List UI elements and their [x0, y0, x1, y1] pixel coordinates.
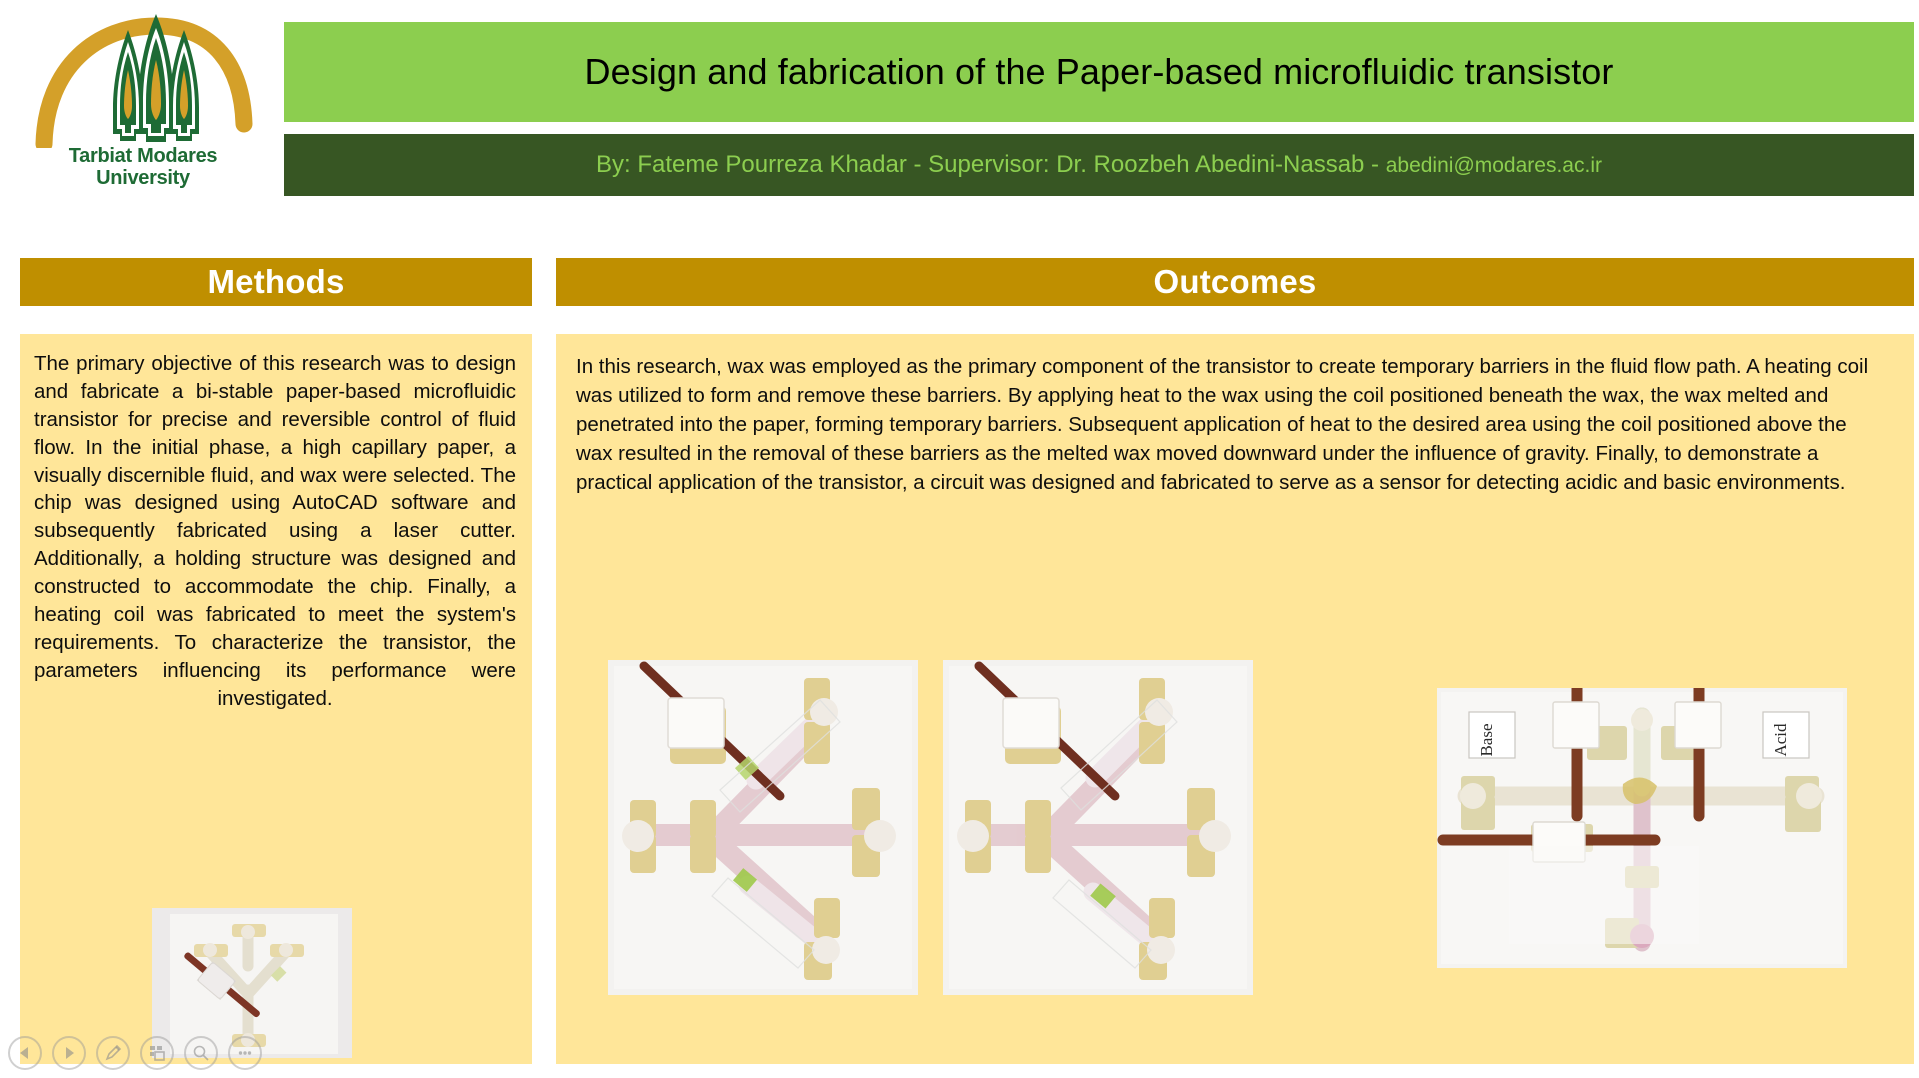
tarbiat-modares-logo-mark	[28, 8, 258, 148]
methods-heading-label: Methods	[207, 263, 344, 301]
logo-text-line1: Tarbiat Modares	[28, 146, 258, 168]
zoom-button[interactable]	[184, 1036, 218, 1070]
next-slide-button[interactable]	[52, 1036, 86, 1070]
transistor-chip-state2-illustration	[943, 660, 1253, 995]
presentation-slide: Tarbiat Modares University Design and fa…	[0, 0, 1919, 1078]
byline-email[interactable]: abedini@modares.ac.ir	[1386, 154, 1602, 177]
outcomes-figure-2-photo	[943, 660, 1253, 995]
all-slides-button[interactable]	[140, 1036, 174, 1070]
page-title: Design and fabrication of the Paper-base…	[584, 51, 1613, 93]
logo-text-line2: University	[28, 168, 258, 190]
transistor-chip-state1-illustration	[608, 660, 918, 995]
outcomes-figure-1-photo	[608, 660, 918, 995]
outcomes-heading-label: Outcomes	[1154, 263, 1317, 301]
byline-authors: By: Fateme Pourreza Khadar - Supervisor:…	[596, 151, 1386, 178]
pen-tools-button[interactable]	[96, 1036, 130, 1070]
acid-base-sensor-illustration: Base Acid	[1437, 688, 1847, 968]
presentation-controls-bar	[8, 1036, 262, 1070]
byline: By: Fateme Pourreza Khadar - Supervisor:…	[596, 151, 1602, 179]
previous-slide-button[interactable]	[8, 1036, 42, 1070]
label-acid: Acid	[1771, 723, 1790, 757]
section-header-methods: Methods	[20, 258, 532, 306]
more-options-button[interactable]	[228, 1036, 262, 1070]
poster-title-bar: Design and fabrication of the Paper-base…	[284, 22, 1914, 122]
methods-body-text: The primary objective of this research w…	[20, 334, 532, 712]
poster-byline-bar: By: Fateme Pourreza Khadar - Supervisor:…	[284, 134, 1914, 196]
outcomes-figure-3-photo: Base Acid	[1437, 688, 1847, 968]
university-logo: Tarbiat Modares University	[28, 8, 258, 198]
outcomes-body-text: In this research, wax was employed as th…	[556, 334, 1914, 498]
label-base: Base	[1477, 723, 1496, 756]
section-header-outcomes: Outcomes	[556, 258, 1914, 306]
